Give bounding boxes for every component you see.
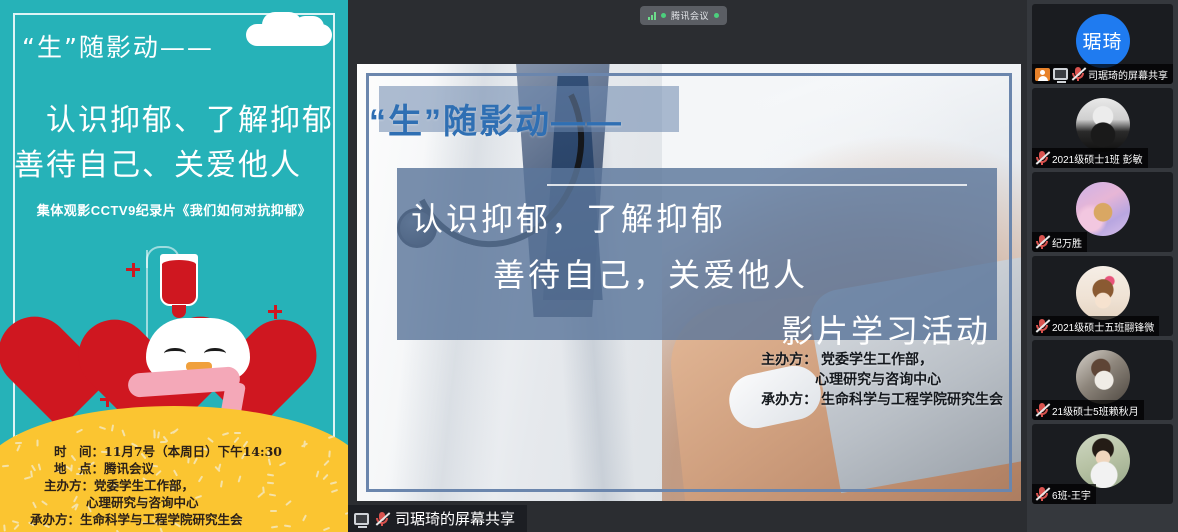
mic-muted-icon xyxy=(1035,318,1049,334)
participant-name: 2021级硕士五班翮锋微 xyxy=(1052,319,1154,334)
participant-tile-4[interactable]: 21级硕士5班赖秋月 xyxy=(1032,340,1173,420)
event-poster: “生”随影动—— 认识抑郁、了解抑郁 善待自己、关爱他人 集体观影CCTV9纪录… xyxy=(0,0,348,532)
mic-muted-icon xyxy=(1035,234,1049,250)
screen-share-icon xyxy=(354,513,369,525)
poster-title: “生”随影动—— xyxy=(22,28,214,64)
slide-line-2: 善待自己，关爱他人 xyxy=(493,250,808,296)
green-dot-icon xyxy=(661,13,666,18)
participant-tile-0[interactable]: 琚琦 司琚琦的屏幕共享 xyxy=(1032,4,1173,84)
host-icon xyxy=(1035,68,1050,81)
hill-speck xyxy=(153,430,156,437)
cloud-icon xyxy=(246,24,332,46)
participant-tile-3[interactable]: 2021级硕士五班翮锋微 xyxy=(1032,256,1173,336)
signal-bars-icon xyxy=(648,12,656,20)
mic-muted-icon xyxy=(1035,150,1049,166)
participant-label-strip: 21级硕士5班赖秋月 xyxy=(1032,400,1144,420)
participant-name: 6班-王宇 xyxy=(1052,487,1091,502)
cross-decor-icon xyxy=(126,268,140,271)
participant-name: 纪万胜 xyxy=(1052,235,1082,250)
participant-tile-2[interactable]: 纪万胜 xyxy=(1032,172,1173,252)
mic-muted-icon xyxy=(375,511,389,527)
poster-headline-1: 认识抑郁、了解抑郁 xyxy=(0,95,334,139)
hill-speck xyxy=(234,432,241,434)
slide-line-1: 认识抑郁，了解抑郁 xyxy=(411,194,726,240)
participant-tile-5[interactable]: 6班-王宇 xyxy=(1032,424,1173,504)
avatar-initials: 琚琦 xyxy=(1076,14,1130,68)
mic-muted-icon xyxy=(1035,402,1049,418)
mic-muted-icon xyxy=(1035,486,1049,502)
avatar xyxy=(1076,434,1130,488)
slide-organizers: 主办方： 党委学生工作部， 心理研究与咨询中心 承办方： 生命科学与工程学院研究… xyxy=(761,349,1003,409)
hill-speck xyxy=(221,432,228,436)
screen-share-icon xyxy=(1053,68,1068,80)
slide-line-3: 影片学习活动 xyxy=(397,306,991,352)
hill-speck xyxy=(159,528,163,532)
participant-label-strip: 2021级硕士五班翮锋微 xyxy=(1032,316,1159,336)
poster-info-line: 地 点：腾讯会议 xyxy=(14,460,334,477)
participant-name: 21级硕士5班赖秋月 xyxy=(1052,403,1139,418)
tencent-meeting-pill[interactable]: 腾讯会议 xyxy=(640,6,727,25)
hill-speck xyxy=(99,426,106,430)
hill-speck xyxy=(76,428,83,433)
poster-info-line: 时 间：11月7号（本周日）下午14:30 xyxy=(14,443,334,460)
hill-speck xyxy=(121,430,125,437)
participant-label-strip: 2021级硕士1班 彭敏 xyxy=(1032,148,1148,168)
slide-title: “生”随影动—— xyxy=(369,94,623,143)
avatar xyxy=(1076,182,1130,236)
avatar: 琚琦 xyxy=(1076,14,1130,68)
participant-name: 司琚琦的屏幕共享 xyxy=(1088,67,1168,82)
poster-info-line: 心理研究与咨询中心 xyxy=(14,494,334,511)
screen-share-status-bar: 司琚琦的屏幕共享 xyxy=(348,505,527,532)
avatar xyxy=(1076,98,1130,152)
participant-label-strip: 纪万胜 xyxy=(1032,232,1087,252)
shared-screen-area[interactable]: 腾讯会议 “生”随影动—— 认识抑郁，了解抑郁 善待自己，关爱他人 xyxy=(348,0,1027,532)
avatar xyxy=(1076,350,1130,404)
poster-info-line: 主办方：党委学生工作部， xyxy=(14,477,334,494)
poster-info-line: 承办方：生命科学与工程学院研究生会 xyxy=(14,511,334,528)
meeting-pill-label: 腾讯会议 xyxy=(671,9,709,22)
participant-label-strip: 6班-王宇 xyxy=(1032,484,1096,504)
slide-text-panel: 认识抑郁，了解抑郁 善待自己，关爱他人 影片学习活动 xyxy=(397,168,997,340)
presentation-slide[interactable]: “生”随影动—— 认识抑郁，了解抑郁 善待自己，关爱他人 影片学习活动 主办方：… xyxy=(357,64,1021,501)
share-bar-label: 司琚琦的屏幕共享 xyxy=(395,508,515,529)
green-dot-icon xyxy=(714,13,719,18)
participant-sidebar[interactable]: 琚琦 司琚琦的屏幕共享 2021级硕士1班 彭敏 xyxy=(1027,0,1178,532)
participant-tile-1[interactable]: 2021级硕士1班 彭敏 xyxy=(1032,88,1173,168)
mic-muted-icon xyxy=(1071,66,1085,82)
hill-speck xyxy=(111,424,114,431)
meeting-window: “生”随影动—— 认识抑郁、了解抑郁 善待自己、关爱他人 集体观影CCTV9纪录… xyxy=(0,0,1178,532)
poster-info-block: 时 间：11月7号（本周日）下午14:30 地 点：腾讯会议 主办方：党委学生工… xyxy=(0,443,348,528)
slide-rule xyxy=(547,184,967,186)
hill-speck xyxy=(328,435,335,439)
participant-label-strip: 司琚琦的屏幕共享 xyxy=(1032,64,1173,84)
blood-bag-icon xyxy=(160,254,198,306)
cross-decor-icon xyxy=(268,310,282,313)
poster-headline-2: 善待自己、关爱他人 xyxy=(14,140,348,184)
organizer-line: 承办方： 生命科学与工程学院研究生会 xyxy=(761,389,1003,409)
hill-speck xyxy=(207,437,214,443)
hill-speck xyxy=(157,431,160,438)
participant-name: 2021级硕士1班 彭敏 xyxy=(1052,151,1143,166)
organizer-line: 心理研究与咨询中心 xyxy=(761,369,1003,389)
poster-subtitle: 集体观影CCTV9纪录片《我们如何对抗抑郁》 xyxy=(0,200,348,219)
organizer-line: 主办方： 党委学生工作部， xyxy=(761,349,1003,369)
avatar xyxy=(1076,266,1130,320)
